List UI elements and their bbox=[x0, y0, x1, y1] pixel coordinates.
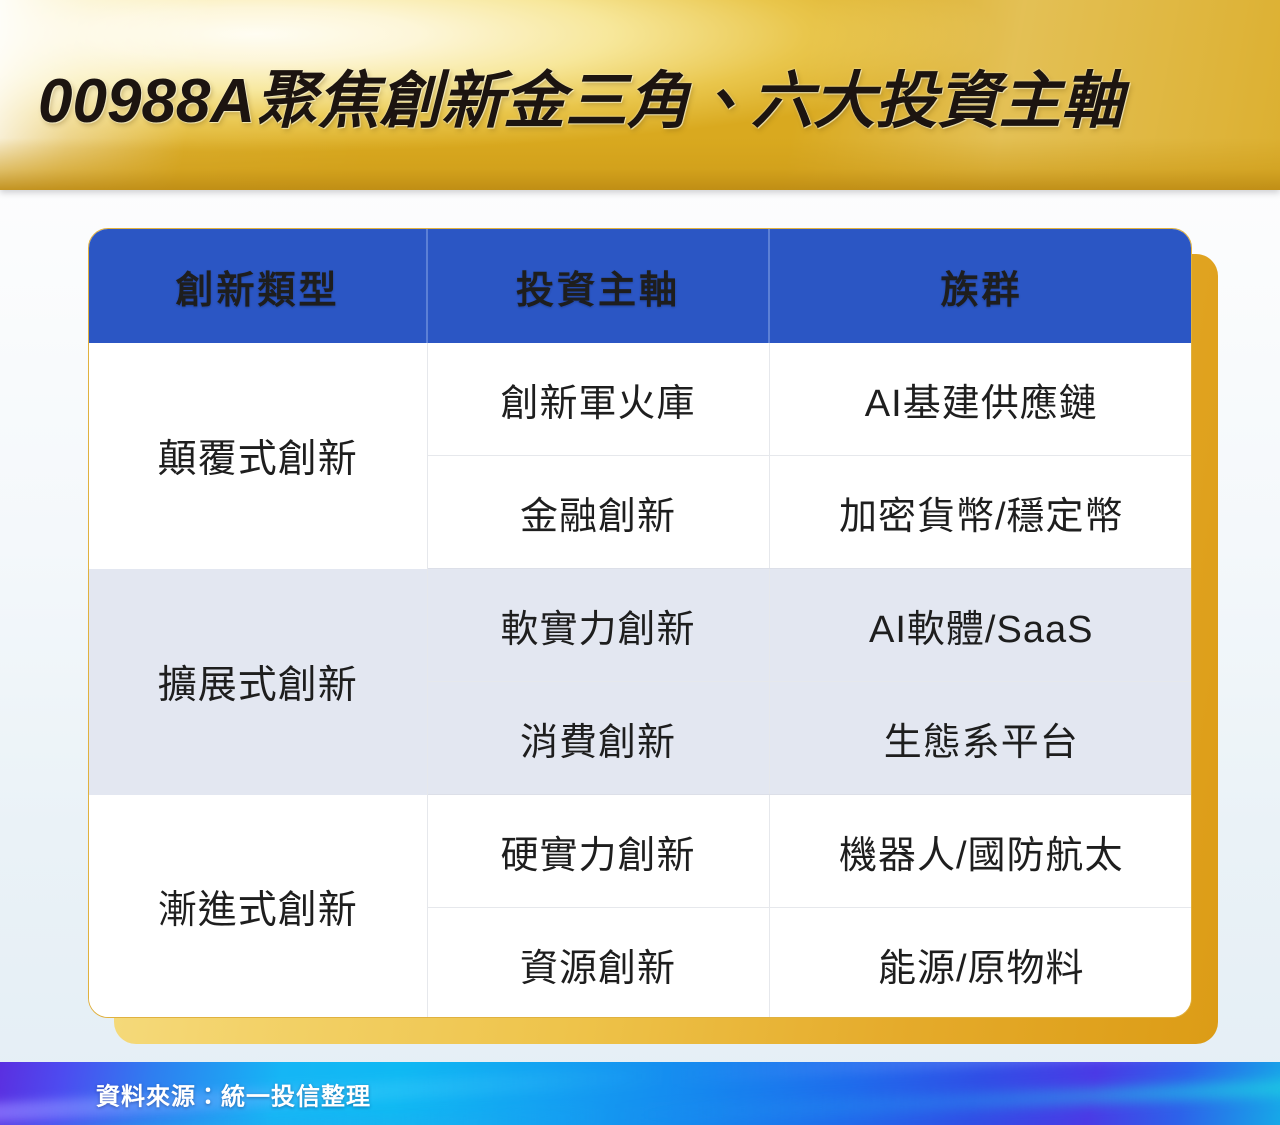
page-title: 00988A聚焦創新金三角、六大投資主軸 bbox=[38, 50, 1256, 140]
group-label-expansive: 擴展式創新 bbox=[89, 569, 427, 795]
table-row: 漸進式創新 硬實力創新 機器人/國防航太 bbox=[89, 795, 1192, 908]
sector-cell: 加密貨幣/穩定幣 bbox=[769, 456, 1192, 569]
column-header-sector: 族群 bbox=[769, 229, 1192, 343]
theme-cell: 金融創新 bbox=[427, 456, 769, 569]
investment-matrix-table: 創新類型 投資主軸 族群 顛覆式創新 創新軍火庫 AI基建供應鏈 金融創新 加密… bbox=[89, 229, 1192, 1018]
sector-cell: AI基建供應鏈 bbox=[769, 343, 1192, 456]
sector-cell: 能源/原物料 bbox=[769, 908, 1192, 1019]
table-row: 擴展式創新 軟實力創新 AI軟體/SaaS bbox=[89, 569, 1192, 682]
group-label-incremental: 漸進式創新 bbox=[89, 795, 427, 1019]
matrix-table-container: 創新類型 投資主軸 族群 顛覆式創新 創新軍火庫 AI基建供應鏈 金融創新 加密… bbox=[88, 228, 1192, 1018]
theme-cell: 消費創新 bbox=[427, 682, 769, 795]
sector-cell: 生態系平台 bbox=[769, 682, 1192, 795]
theme-cell: 創新軍火庫 bbox=[427, 343, 769, 456]
title-banner: 00988A聚焦創新金三角、六大投資主軸 bbox=[0, 0, 1280, 190]
matrix-table-card: 創新類型 投資主軸 族群 顛覆式創新 創新軍火庫 AI基建供應鏈 金融創新 加密… bbox=[88, 228, 1192, 1018]
column-header-innovation-type: 創新類型 bbox=[89, 229, 427, 343]
source-label: 資料來源：統一投信整理 bbox=[96, 1076, 371, 1111]
theme-cell: 資源創新 bbox=[427, 908, 769, 1019]
theme-cell: 硬實力創新 bbox=[427, 795, 769, 908]
column-header-investment-theme: 投資主軸 bbox=[427, 229, 769, 343]
table-header-row: 創新類型 投資主軸 族群 bbox=[89, 229, 1192, 343]
footer-bar: 資料來源：統一投信整理 bbox=[0, 1062, 1280, 1125]
table-header: 創新類型 投資主軸 族群 bbox=[89, 229, 1192, 343]
sector-cell: AI軟體/SaaS bbox=[769, 569, 1192, 682]
sector-cell: 機器人/國防航太 bbox=[769, 795, 1192, 908]
group-label-disruptive: 顛覆式創新 bbox=[89, 343, 427, 569]
theme-cell: 軟實力創新 bbox=[427, 569, 769, 682]
table-body: 顛覆式創新 創新軍火庫 AI基建供應鏈 金融創新 加密貨幣/穩定幣 擴展式創新 … bbox=[89, 343, 1192, 1018]
table-row: 顛覆式創新 創新軍火庫 AI基建供應鏈 bbox=[89, 343, 1192, 456]
